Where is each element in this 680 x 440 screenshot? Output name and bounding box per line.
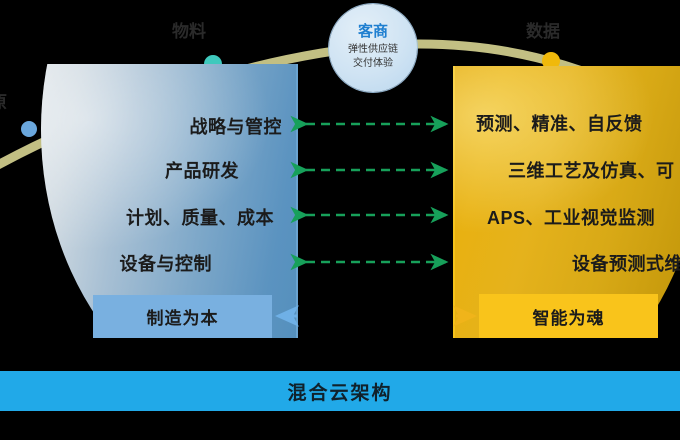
hybrid-cloud-label: 混合云架构 — [287, 378, 392, 405]
right-row-2: APS、工业视觉监测 — [473, 204, 680, 230]
intelligence-tag[interactable]: 智能为魂 — [479, 294, 658, 338]
customer-hub-title: 客商 — [358, 24, 388, 41]
intelligence-tag-label: 智能为魂 — [533, 304, 605, 329]
right-row-1: 三维工艺及仿真、可 — [494, 157, 680, 183]
left-row-2: 计划、质量、成本 — [38, 204, 288, 230]
manufacturing-tag[interactable]: 制造为本 — [93, 295, 272, 338]
label-resource: 原 — [0, 88, 7, 113]
hybrid-cloud-bar[interactable]: 混合云架构 — [0, 371, 680, 411]
node-resource-dot — [21, 121, 37, 137]
left-row-1: 产品研发 — [38, 157, 253, 183]
left-row-0: 战略与管控 — [38, 113, 296, 139]
right-row-0: 预测、精准、自反馈 — [462, 110, 680, 136]
left-row-3: 设备与控制 — [38, 250, 226, 276]
right-row-3: 设备预测式维 — [558, 250, 680, 276]
diagram-canvas: 战略与管控 产品研发 计划、质量、成本 设备与控制 预测、精准、自反馈 三维工艺… — [0, 0, 680, 440]
customer-hub[interactable]: 客商 弹性供应链 交付体验 — [329, 4, 417, 92]
customer-hub-line2: 交付体验 — [353, 57, 393, 72]
manufacturing-tag-label: 制造为本 — [147, 304, 219, 329]
customer-hub-line1: 弹性供应链 — [348, 43, 398, 58]
label-data: 数据 — [526, 17, 560, 42]
label-material: 物料 — [172, 17, 206, 42]
